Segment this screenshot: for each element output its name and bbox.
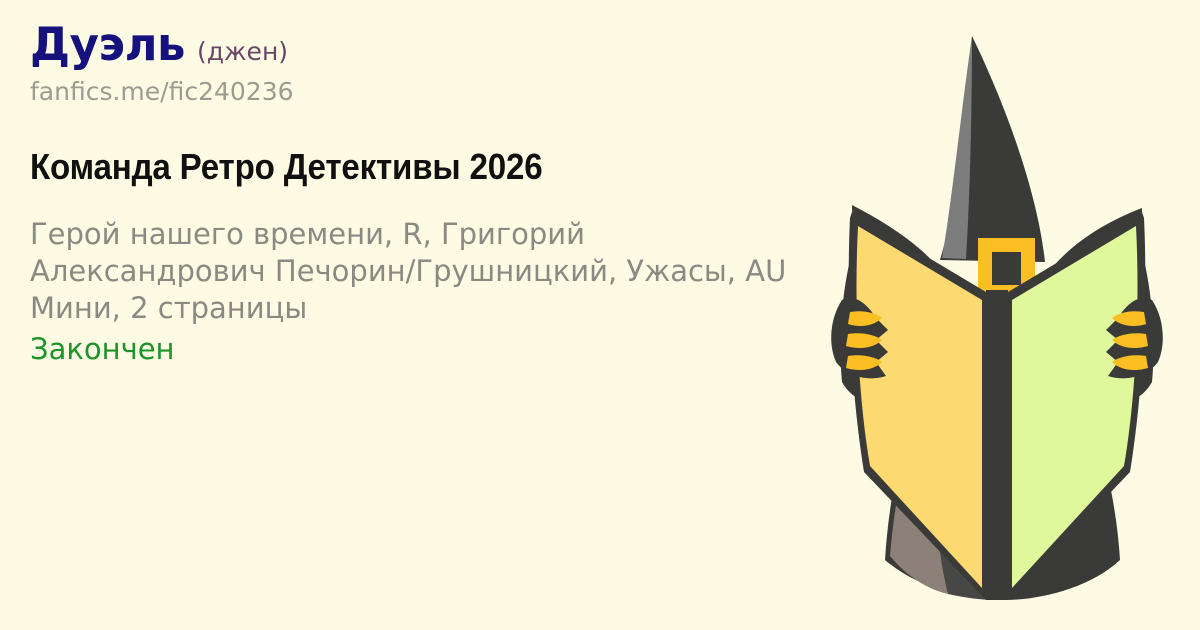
team-title: Команда Ретро Детективы 2026 bbox=[30, 146, 766, 188]
fic-url[interactable]: fanfics.me/fic240236 bbox=[30, 77, 830, 106]
witch-hat-icon bbox=[940, 36, 1045, 262]
meta-block: Герой нашего времени, R, Григорий Алекса… bbox=[30, 216, 830, 368]
fic-category-label: (джен) bbox=[197, 39, 288, 64]
witch-reading-book-illustration bbox=[790, 0, 1200, 630]
book-spine bbox=[986, 290, 1008, 600]
status-badge: Закончен bbox=[30, 331, 830, 368]
title-row: Дуэль (джен) bbox=[30, 22, 830, 67]
fandom-tags-line: Герой нашего времени, R, Григорий Алекса… bbox=[30, 216, 820, 290]
text-column: Дуэль (джен) fanfics.me/fic240236 Команд… bbox=[30, 22, 830, 368]
size-line: Мини, 2 страницы bbox=[30, 290, 830, 327]
fanfic-preview-card: Дуэль (джен) fanfics.me/fic240236 Команд… bbox=[0, 0, 1200, 630]
fic-title: Дуэль bbox=[30, 22, 185, 67]
